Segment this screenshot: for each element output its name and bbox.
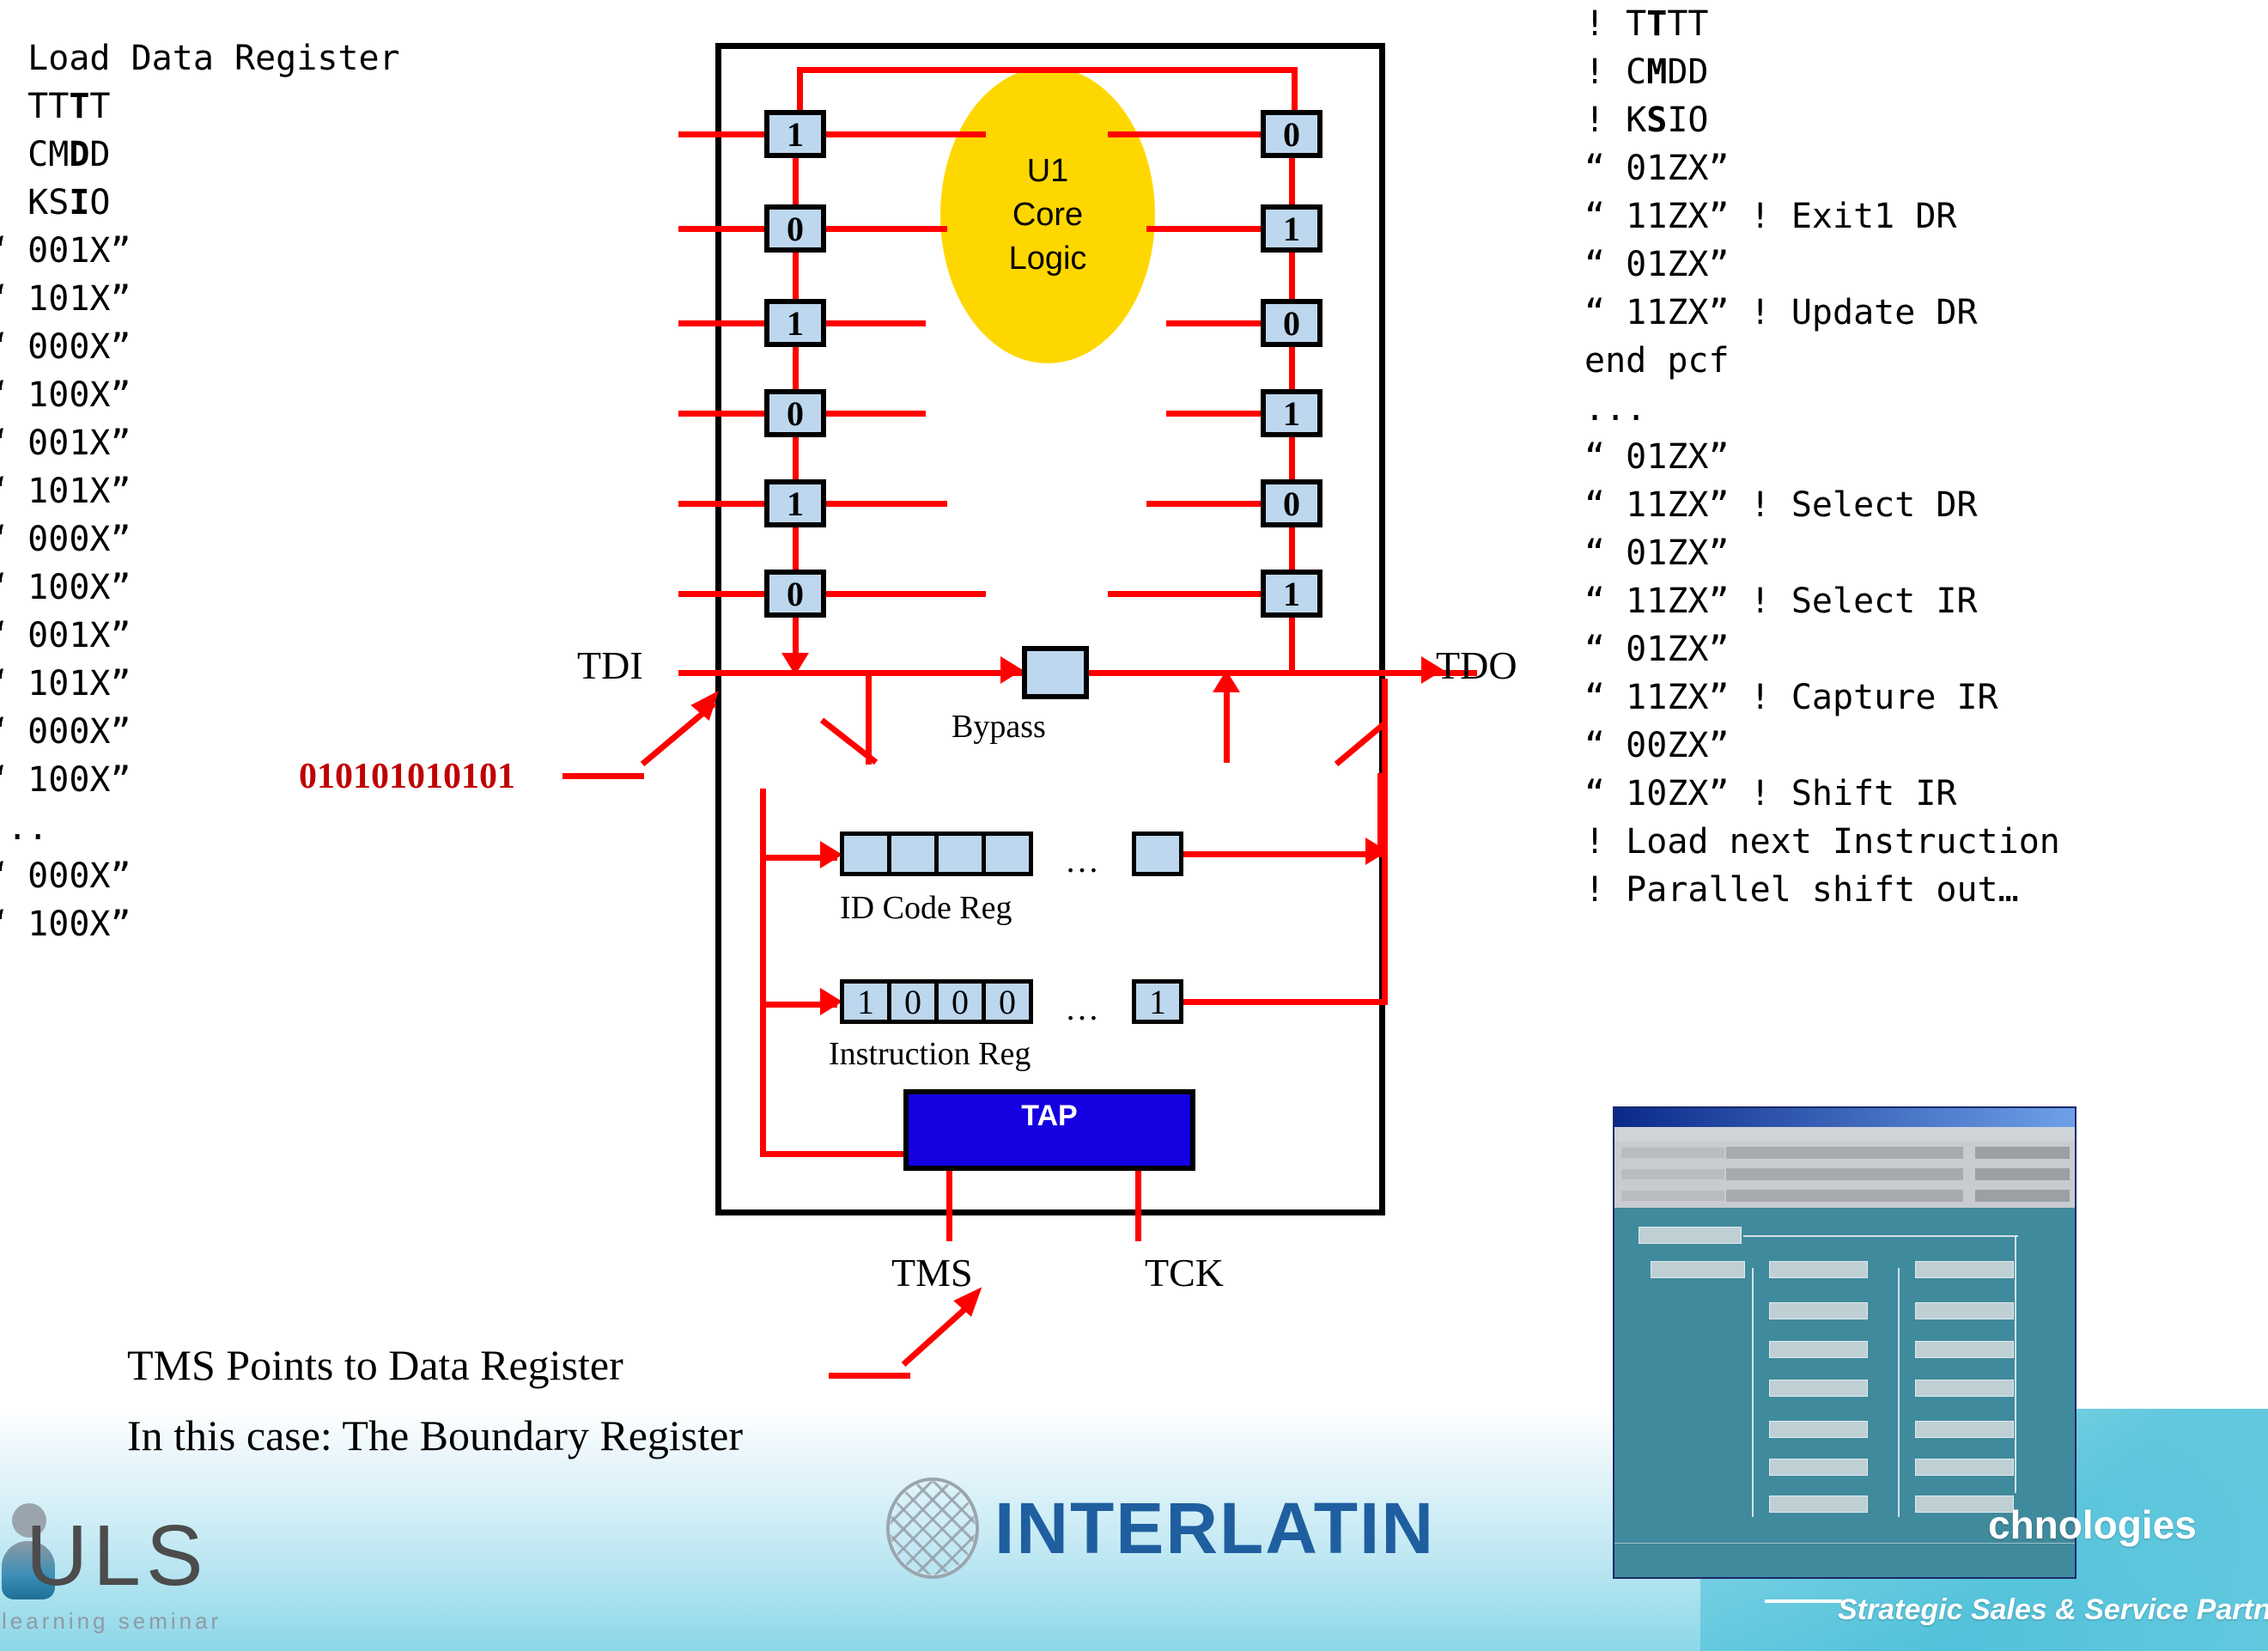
pin-left-2 bbox=[678, 226, 768, 232]
core-logic-line3: Logic bbox=[1009, 237, 1087, 281]
pin-left-4 bbox=[678, 411, 768, 417]
thumb-field-1b bbox=[1975, 1147, 2070, 1159]
thumb-field-3 bbox=[1726, 1190, 1963, 1202]
pin-left-1 bbox=[678, 131, 768, 137]
wire-top-right-drop bbox=[1292, 67, 1298, 110]
left-code-listing: ! Load Data Register! TTTT! CMDD! KSIO“ … bbox=[0, 34, 690, 948]
code-line: “ 001X” bbox=[0, 227, 690, 275]
thumb-label-3 bbox=[1621, 1191, 1724, 1201]
wire-branch-down-1 bbox=[866, 670, 872, 765]
interlatin-logo: INTERLATIN bbox=[886, 1472, 1435, 1584]
code-line: “ 01ZX” bbox=[1584, 625, 2268, 673]
wire-top-left-drop bbox=[797, 67, 803, 110]
uls-logo: ULS learning seminar bbox=[0, 1488, 275, 1651]
thumb-field-1 bbox=[1726, 1147, 1963, 1159]
instruction-cell-2: 0 bbox=[887, 979, 939, 1024]
boundary-cell-left-1: 1 bbox=[764, 110, 826, 158]
code-line: “ 01ZX” bbox=[1584, 144, 2268, 192]
thumb-label-1 bbox=[1621, 1148, 1724, 1158]
thumb-state-node bbox=[1639, 1227, 1742, 1244]
idcode-cell-3 bbox=[934, 832, 986, 876]
tdi-bitstream-annotation: 010101010101 bbox=[299, 756, 515, 797]
globe-icon bbox=[886, 1477, 979, 1579]
arrow-idcode-out bbox=[1365, 838, 1388, 865]
thumb-state-node bbox=[1769, 1459, 1868, 1476]
uls-wordmark: ULS bbox=[26, 1507, 209, 1605]
boundary-cell-left-6: 0 bbox=[764, 570, 826, 618]
core-logic-ellipse: U1 Core Logic bbox=[940, 67, 1155, 363]
chain-left-4-5 bbox=[793, 437, 799, 479]
thumb-field-2 bbox=[1726, 1168, 1963, 1180]
thumb-state-node bbox=[1915, 1341, 2014, 1358]
boundary-cell-right-6: 1 bbox=[1261, 570, 1322, 618]
boundary-cell-left-5: 1 bbox=[764, 479, 826, 527]
idcode-cell-2 bbox=[887, 832, 939, 876]
thumb-connector bbox=[1743, 1235, 2018, 1237]
code-line: ! CMDD bbox=[0, 131, 690, 179]
arrow-left-chain-down bbox=[781, 653, 809, 675]
code-line: “ 01ZX” bbox=[1584, 433, 2268, 481]
code-line: “ 100X” bbox=[0, 371, 690, 419]
boundary-cell-right-3: 0 bbox=[1261, 299, 1322, 347]
boundary-cell-right-4: 1 bbox=[1261, 389, 1322, 437]
code-line: “ 11ZX” ! Select DR bbox=[1584, 481, 2268, 529]
code-line: ... bbox=[0, 804, 690, 852]
wire-left-core-3 bbox=[823, 320, 926, 326]
chain-left-3-4 bbox=[793, 347, 799, 389]
partner-rule bbox=[1765, 1599, 1842, 1603]
chain-right-3-4 bbox=[1289, 347, 1295, 389]
chain-right-4-5 bbox=[1289, 437, 1295, 479]
wire-left-core-2 bbox=[823, 226, 947, 232]
wire-core-right-5 bbox=[1146, 501, 1262, 507]
instruction-cell-3: 0 bbox=[934, 979, 986, 1024]
wire-top-feedback bbox=[797, 67, 1298, 73]
code-line: ! KSIO bbox=[1584, 96, 2268, 144]
thumb-state-node bbox=[1915, 1421, 2014, 1438]
interlatin-wordmark: INTERLATIN bbox=[994, 1487, 1435, 1570]
code-line: “ 001X” bbox=[0, 419, 690, 467]
chain-left-1-2 bbox=[793, 158, 799, 204]
chain-right-2-3 bbox=[1289, 253, 1295, 299]
boundary-cell-left-3: 1 bbox=[764, 299, 826, 347]
code-line: “ 10ZX” ! Shift IR bbox=[1584, 770, 2268, 818]
chain-right-6-out bbox=[1289, 618, 1295, 673]
wire-branch-down-2 bbox=[760, 789, 766, 1008]
code-line: “ 11ZX” ! Update DR bbox=[1584, 289, 2268, 337]
code-line: ! Parallel shift out… bbox=[1584, 866, 2268, 914]
wire-instr-out bbox=[1183, 999, 1388, 1005]
wire-idcode-out bbox=[1183, 851, 1383, 857]
idcode-cell-4 bbox=[982, 832, 1033, 876]
wire-tck bbox=[1135, 1171, 1141, 1241]
thumb-state-node bbox=[1769, 1302, 1868, 1319]
code-line: ! Load Data Register bbox=[0, 34, 690, 82]
tap-label: TAP bbox=[1021, 1100, 1077, 1133]
wire-tdo-bus bbox=[1086, 670, 1477, 676]
instruction-label: Instruction Reg bbox=[829, 1035, 1031, 1073]
instruction-register: 1 0 0 0 bbox=[840, 979, 1033, 1024]
thumb-label-2 bbox=[1621, 1169, 1724, 1179]
code-line: ! Load next Instruction bbox=[1584, 818, 2268, 866]
chain-right-1-2 bbox=[1289, 158, 1295, 204]
code-line: “ 000X” bbox=[0, 323, 690, 371]
thumb-field-3b bbox=[1975, 1190, 2070, 1202]
code-line: ... bbox=[1584, 385, 2268, 433]
boundary-cell-right-1: 0 bbox=[1261, 110, 1322, 158]
wire-core-right-3 bbox=[1166, 320, 1262, 326]
thumb-state-node bbox=[1769, 1496, 1868, 1513]
code-line: ! TTTT bbox=[1584, 0, 2268, 48]
code-line: “ 11ZX” ! Exit1 DR bbox=[1584, 192, 2268, 241]
tdi-label: TDI bbox=[577, 643, 643, 688]
wire-tms bbox=[946, 1171, 952, 1241]
thumb-field-2b bbox=[1975, 1168, 2070, 1180]
tap-controller-box: TAP bbox=[903, 1089, 1195, 1171]
thumb-connector bbox=[2015, 1235, 2016, 1493]
wire-tap-feed bbox=[760, 1151, 908, 1157]
wire-core-right-2 bbox=[1146, 226, 1262, 232]
code-line: ! CMDD bbox=[1584, 48, 2268, 96]
boundary-cell-right-2: 1 bbox=[1261, 204, 1322, 253]
chain-left-2-3 bbox=[793, 253, 799, 299]
thumb-state-node bbox=[1769, 1341, 1868, 1358]
note-line-1: TMS Points to Data Register bbox=[127, 1340, 623, 1390]
bypass-label: Bypass bbox=[952, 708, 1046, 746]
boundary-cell-left-4: 0 bbox=[764, 389, 826, 437]
partner-tagline: Strategic Sales & Service Partner bbox=[1838, 1593, 2268, 1627]
wire-tap-down bbox=[760, 1002, 766, 1156]
thumb-statusbar bbox=[1614, 1543, 2075, 1577]
technologies-text: chnologies bbox=[1988, 1502, 2197, 1548]
thumb-titlebar bbox=[1614, 1108, 2075, 1127]
wire-core-right-1 bbox=[1108, 131, 1262, 137]
thumb-state-node bbox=[1769, 1380, 1868, 1397]
annotation-leader-h bbox=[562, 773, 644, 779]
instruction-cell-4: 0 bbox=[982, 979, 1033, 1024]
chain-right-5-6 bbox=[1289, 527, 1295, 570]
thumb-state-node bbox=[1769, 1421, 1868, 1438]
thumb-state-node bbox=[1915, 1459, 2014, 1476]
thumb-state-node bbox=[1915, 1261, 2014, 1278]
instruction-cell-last: 1 bbox=[1132, 979, 1183, 1024]
wire-left-core-1 bbox=[823, 131, 986, 137]
thumb-menubar bbox=[1614, 1127, 2075, 1141]
thumb-form-area bbox=[1614, 1141, 2075, 1208]
thumb-connector bbox=[1898, 1268, 1900, 1517]
idcode-cell-1 bbox=[840, 832, 891, 876]
code-line: “ 000X” bbox=[0, 708, 690, 756]
thumb-state-diagram bbox=[1614, 1208, 2075, 1543]
idcode-register bbox=[840, 832, 1033, 876]
instruction-ellipsis: … bbox=[1065, 988, 1103, 1028]
thumb-state-node bbox=[1915, 1380, 2014, 1397]
core-logic-line1: U1 bbox=[1027, 149, 1069, 193]
pin-left-6 bbox=[678, 591, 768, 597]
tck-label: TCK bbox=[1145, 1250, 1224, 1295]
code-line: ! KSIO bbox=[0, 179, 690, 227]
code-line: “ 100X” bbox=[0, 564, 690, 612]
chain-left-5-6 bbox=[793, 527, 799, 570]
code-line: “ 101X” bbox=[0, 275, 690, 323]
wire-core-right-6 bbox=[1108, 591, 1262, 597]
boundary-cell-left-2: 0 bbox=[764, 204, 826, 253]
core-logic-line2: Core bbox=[1012, 193, 1083, 237]
thumb-state-node bbox=[1769, 1261, 1868, 1278]
uls-tagline: learning seminar bbox=[2, 1608, 222, 1635]
pin-left-5 bbox=[678, 501, 768, 507]
arrow-into-bypass bbox=[1000, 656, 1023, 684]
code-line: “ 11ZX” ! Select IR bbox=[1584, 577, 2268, 625]
code-line: “ 100X” bbox=[0, 900, 690, 948]
thumb-state-node bbox=[1651, 1261, 1745, 1278]
wire-core-right-4 bbox=[1166, 411, 1262, 417]
code-line: “ 11ZX” ! Capture IR bbox=[1584, 673, 2268, 722]
code-line: “ 01ZX” bbox=[1584, 241, 2268, 289]
code-line: “ 000X” bbox=[0, 852, 690, 900]
note-line-2: In this case: The Boundary Register bbox=[127, 1410, 743, 1460]
idcode-ellipsis: … bbox=[1065, 840, 1103, 880]
boundary-cell-right-5: 0 bbox=[1261, 479, 1322, 527]
code-line: “ 101X” bbox=[0, 467, 690, 515]
wire-left-core-5 bbox=[823, 501, 947, 507]
instruction-cell-1: 1 bbox=[840, 979, 891, 1024]
code-line: ! TTTT bbox=[0, 82, 690, 131]
code-line: “ 00ZX” bbox=[1584, 722, 2268, 770]
idcode-cell-last bbox=[1132, 832, 1183, 876]
idcode-label: ID Code Reg bbox=[840, 889, 1012, 927]
tdo-label: TDO bbox=[1436, 643, 1517, 688]
bypass-cell bbox=[1022, 646, 1089, 699]
wire-riser-to-bus bbox=[1224, 687, 1230, 763]
code-line: end pcf bbox=[1584, 337, 2268, 385]
thumb-state-node bbox=[1915, 1302, 2014, 1319]
thumb-connector bbox=[1752, 1268, 1754, 1517]
wire-left-core-4 bbox=[823, 411, 926, 417]
wire-left-core-6 bbox=[823, 591, 986, 597]
note-leader-h bbox=[829, 1373, 910, 1379]
code-line: “ 000X” bbox=[0, 515, 690, 564]
right-code-listing: ! TTTT! CMDD! KSIO“ 01ZX”“ 11ZX” ! Exit1… bbox=[1584, 0, 2268, 914]
arrow-riser-up bbox=[1213, 670, 1240, 692]
pin-left-3 bbox=[678, 320, 768, 326]
code-line: “ 01ZX” bbox=[1584, 529, 2268, 577]
tms-label: TMS bbox=[891, 1250, 973, 1295]
